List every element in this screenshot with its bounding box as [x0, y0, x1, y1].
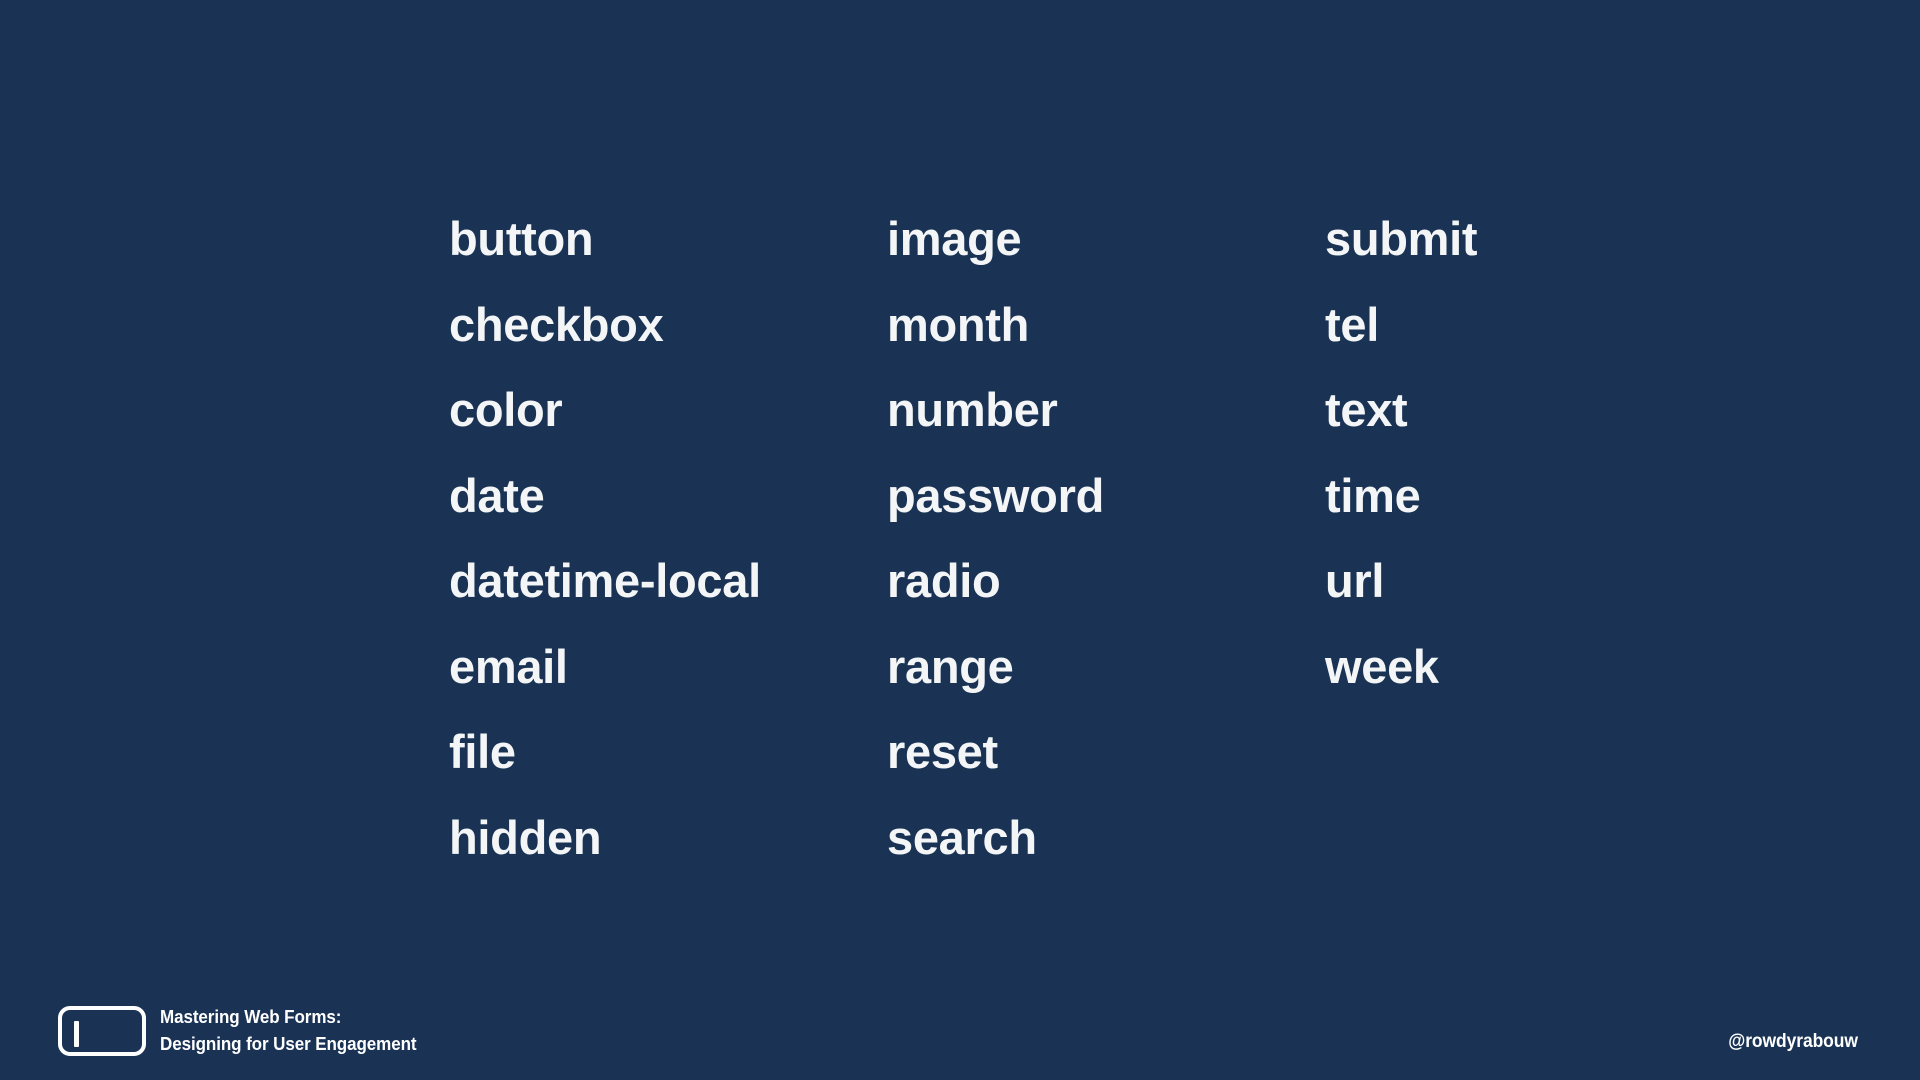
input-type-item: text [1325, 367, 1649, 453]
input-type-item: hidden [449, 795, 887, 881]
input-type-item: number [887, 367, 1325, 453]
input-type-item: reset [887, 709, 1325, 795]
brand-title: Mastering Web Forms: Designing for User … [160, 1004, 439, 1058]
input-type-item: checkbox [449, 282, 887, 368]
input-type-item: tel [1325, 282, 1649, 368]
input-type-item: url [1325, 538, 1649, 624]
input-types-grid: button checkbox color date datetime-loca… [449, 196, 1649, 880]
input-type-item: datetime-local [449, 538, 887, 624]
brand-title-line-2: Designing for User Engagement [160, 1031, 416, 1058]
input-type-item: file [449, 709, 887, 795]
input-type-item: email [449, 624, 887, 710]
input-type-item: week [1325, 624, 1649, 710]
input-type-item: month [887, 282, 1325, 368]
input-type-item: image [887, 196, 1325, 282]
input-type-item: date [449, 453, 887, 539]
input-type-item: range [887, 624, 1325, 710]
brand-title-line-1: Mastering Web Forms: [160, 1004, 416, 1031]
social-handle: @rowdyrabouw [1728, 1031, 1858, 1053]
input-types-column-2: image month number password radio range … [887, 196, 1325, 880]
slide-root: button checkbox color date datetime-loca… [0, 0, 1920, 1080]
input-type-item: submit [1325, 196, 1649, 282]
input-type-item: password [887, 453, 1325, 539]
input-type-item: time [1325, 453, 1649, 539]
input-type-item: radio [887, 538, 1325, 624]
input-type-item: color [449, 367, 887, 453]
text-caret-icon [74, 1021, 79, 1047]
input-type-item: search [887, 795, 1325, 881]
input-types-column-1: button checkbox color date datetime-loca… [449, 196, 887, 880]
input-type-item: button [449, 196, 887, 282]
input-types-column-3: submit tel text time url week [1325, 196, 1649, 880]
footer-brand: Mastering Web Forms: Designing for User … [58, 1004, 439, 1058]
text-input-field-icon [58, 1006, 146, 1056]
